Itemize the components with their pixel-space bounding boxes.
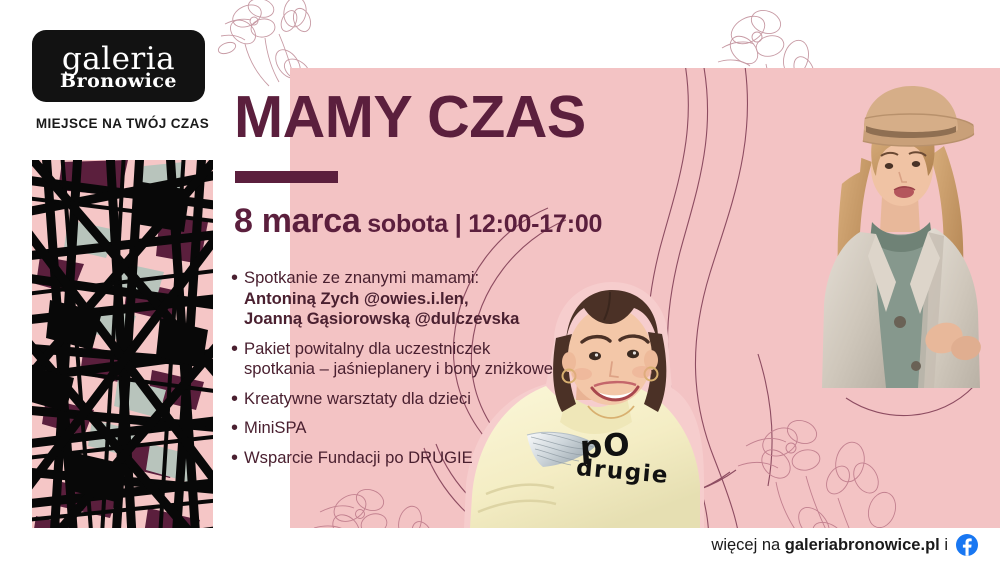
bullet-icon: •: [231, 339, 244, 359]
footer-suffix: i: [940, 536, 948, 554]
website-link[interactable]: galeriabronowice.pl: [785, 536, 940, 554]
photo-woman-in-hat: [768, 76, 1000, 388]
list-item-line: Kreatywne warsztaty dla dzieci: [244, 389, 471, 408]
list-item-text: Spotkanie ze znanymi mamami: Antoniną Zy…: [244, 268, 519, 330]
page-title: MAMY CZAS: [234, 88, 586, 147]
poster-root: galeria Bronowice MIEJSCE NA TWÓJ CZAS M…: [0, 0, 1000, 562]
list-item-text: Pakiet powitalny dla uczestniczek spotka…: [244, 339, 553, 380]
list-item-text: MiniSPA: [244, 418, 306, 439]
list-item: • Pakiet powitalny dla uczestniczek spot…: [231, 339, 661, 380]
list-item-line: Joanną Gąsiorowską @dulczevska: [244, 309, 519, 328]
title-divider-rule: [235, 171, 338, 183]
bullet-icon: •: [231, 268, 244, 288]
list-item: • Spotkanie ze znanymi mamami: Antoniną …: [231, 268, 661, 330]
bullet-icon: •: [231, 448, 244, 468]
list-item-text: Kreatywne warsztaty dla dzieci: [244, 389, 471, 410]
brand-tagline: MIEJSCE NA TWÓJ CZAS: [32, 116, 213, 131]
floral-decoration-bottom-right: [710, 398, 940, 528]
list-item-line: Pakiet powitalny dla uczestniczek: [244, 339, 490, 358]
footer-bar: więcej na galeriabronowice.pl i: [0, 528, 1000, 562]
bullet-icon: •: [231, 418, 244, 438]
list-item: • Kreatywne warsztaty dla dzieci: [231, 389, 661, 410]
po-drugie-foundation-logo: pO drugie: [525, 425, 675, 503]
list-item-line: Spotkanie ze znanymi mamami:: [244, 268, 479, 287]
list-item-text: Wsparcie Fundacji po DRUGIE: [244, 448, 473, 469]
list-item-line: Antoniną Zych @owies.i.len,: [244, 289, 469, 308]
event-day-and-hours: sobota | 12:00-17:00: [360, 210, 602, 238]
event-datetime: 8 marca sobota | 12:00-17:00: [234, 204, 602, 238]
list-item-line: MiniSPA: [244, 418, 306, 437]
galeria-bronowice-logo[interactable]: galeria Bronowice: [32, 30, 205, 102]
facebook-icon[interactable]: [956, 534, 978, 556]
footer-prefix: więcej na: [711, 536, 784, 554]
list-item-line: Wsparcie Fundacji po DRUGIE: [244, 448, 473, 467]
list-item-line: spotkania – jaśnieplanery i bony zniżkow…: [244, 359, 553, 378]
decorative-mosaic-panel: [32, 160, 213, 562]
footer-text: więcej na galeriabronowice.pl i: [711, 536, 948, 555]
logo-text-bronowice: Bronowice: [60, 72, 177, 91]
event-date: 8 marca: [234, 202, 360, 240]
po-drugie-wordmark: pO drugie: [580, 427, 669, 485]
bullet-icon: •: [231, 389, 244, 409]
